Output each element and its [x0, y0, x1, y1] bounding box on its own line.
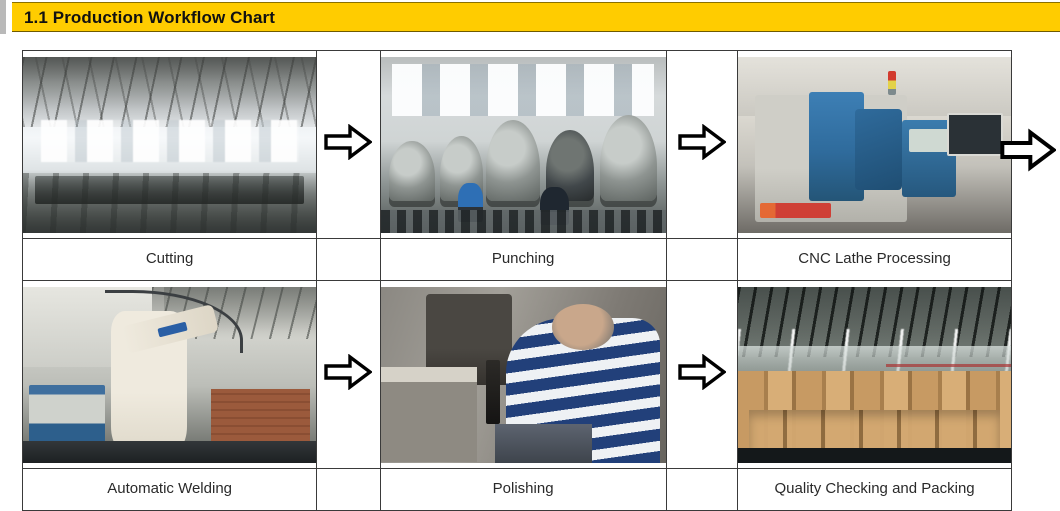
- caption-welding: Automatic Welding: [23, 469, 317, 511]
- spindle-detail: [486, 360, 500, 423]
- worker-head-detail: [552, 304, 615, 350]
- photo-factory-cutting-hall: [23, 57, 316, 233]
- caption-cutting: Cutting: [23, 239, 317, 281]
- caption-punching: Punching: [380, 239, 666, 281]
- work-table-detail: [381, 367, 478, 462]
- wall-stripe-detail: [886, 364, 1012, 368]
- photo-welding-robot-arm: [23, 287, 316, 463]
- arrow-right-icon-outbound: [1000, 128, 1056, 172]
- brand-logo-detail: [760, 203, 831, 219]
- arrow-right-icon: [324, 124, 372, 160]
- press-machine-detail: [600, 115, 657, 201]
- photo-cell-polishing: [380, 281, 666, 469]
- window-band-detail: [41, 120, 299, 162]
- table-row: Cutting Punching CNC Lathe Processing: [23, 239, 1012, 281]
- arrow-right-icon: [324, 354, 372, 390]
- photo-warehouse-packed-cartons: [738, 287, 1011, 463]
- spacer-cell-2: [666, 239, 738, 281]
- caption-cnc: CNC Lathe Processing: [738, 239, 1012, 281]
- floor-detail: [738, 448, 1011, 462]
- photo-cell-punching: [380, 51, 666, 239]
- high-window-detail: [392, 64, 654, 117]
- floor-detail: [23, 441, 316, 462]
- header-bar: 1.1 Production Workflow Chart: [12, 2, 1060, 32]
- workflow-grid: Cutting Punching CNC Lathe Processing: [22, 50, 1012, 511]
- arrow-cell-1: [317, 51, 380, 239]
- caption-quality: Quality Checking and Packing: [738, 469, 1012, 511]
- press-machine-detail: [486, 120, 540, 201]
- table-row: [23, 281, 1012, 469]
- table-row: Automatic Welding Polishing Quality Chec…: [23, 469, 1012, 511]
- page-title: 1.1 Production Workflow Chart: [12, 9, 275, 26]
- photo-punch-press-line: [381, 57, 666, 233]
- signal-lamp-detail: [888, 71, 896, 96]
- photo-cell-welding: [23, 281, 317, 469]
- roof-truss-detail: [23, 57, 316, 127]
- spacer-cell-1: [317, 239, 380, 281]
- arrow-cell-4: [666, 281, 738, 469]
- brick-wall-detail: [211, 389, 311, 442]
- photo-cell-cutting: [23, 51, 317, 239]
- arrow-right-icon: [678, 354, 726, 390]
- caption-polishing: Polishing: [380, 469, 666, 511]
- spacer-cell-3: [317, 469, 380, 511]
- table-row: [23, 51, 1012, 239]
- floor-detail: [23, 173, 316, 233]
- arrow-cell-3: [317, 281, 380, 469]
- arrow-cell-2: [666, 51, 738, 239]
- photo-cnc-machining-center: [738, 57, 1011, 233]
- monitor-detail: [947, 113, 1003, 156]
- photo-cell-quality: [738, 281, 1012, 469]
- production-workflow-page: 1.1 Production Workflow Chart: [0, 0, 1060, 498]
- photo-cell-cnc: [738, 51, 1012, 239]
- arrow-right-icon: [678, 124, 726, 160]
- control-cabinet-detail: [29, 385, 105, 445]
- worker-trousers-detail: [495, 424, 592, 463]
- press-machine-detail: [389, 141, 435, 201]
- photo-worker-at-drill-press: [381, 287, 666, 463]
- parts-crates-detail: [381, 210, 666, 233]
- section-header: 1.1 Production Workflow Chart: [0, 0, 1060, 34]
- spacer-cell-4: [666, 469, 738, 511]
- machine-arm-detail: [855, 109, 901, 190]
